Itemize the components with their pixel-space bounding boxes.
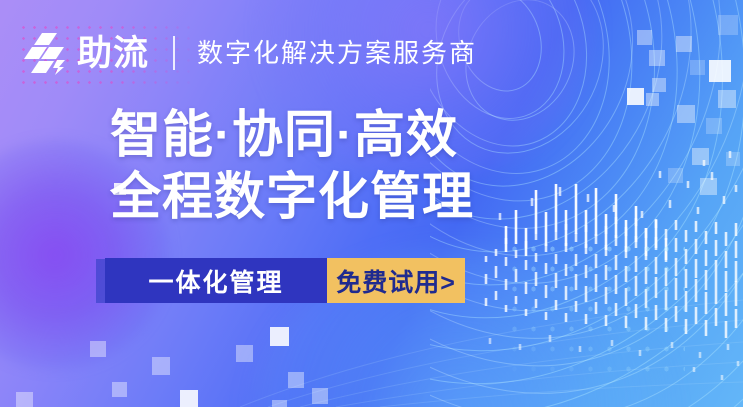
- headline: 智能·协同·高效 全程数字化管理: [110, 104, 474, 228]
- banner-content: 助流 数字化解决方案服务商 智能·协同·高效 全程数字化管理 一体化管理 免费试…: [0, 0, 743, 407]
- headline-line-1: 智能·协同·高效: [110, 104, 474, 166]
- brand-name: 助流: [77, 36, 149, 71]
- integrated-management-button[interactable]: 一体化管理: [105, 258, 327, 303]
- headline-line-2: 全程数字化管理: [110, 166, 474, 228]
- brand-lockup: 助流 数字化解决方案服务商: [24, 29, 477, 77]
- brand-tagline: 数字化解决方案服务商: [197, 40, 477, 66]
- promo-banner: 助流 数字化解决方案服务商 智能·协同·高效 全程数字化管理 一体化管理 免费试…: [0, 0, 743, 407]
- cta-row: 一体化管理 免费试用>: [105, 258, 465, 303]
- flow-lightning-logo-icon: [24, 31, 68, 75]
- free-trial-button[interactable]: 免费试用>: [327, 258, 465, 303]
- brand-divider: [173, 36, 175, 70]
